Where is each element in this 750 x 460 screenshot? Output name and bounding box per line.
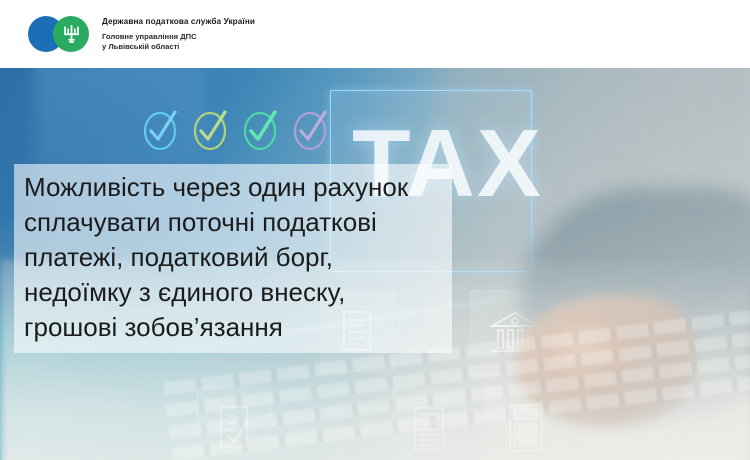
headline-text-box: Можливість через один рахунок сплачувати…: [14, 164, 452, 353]
checkmark-circle-blue-icon: [140, 106, 180, 152]
checkmark-circle-purple-icon: [290, 106, 330, 152]
agency-title-block: Державна податкова служба України Головн…: [102, 16, 255, 53]
headline-line-2: сплачувати поточні податкові: [24, 205, 442, 240]
headline-line-4: недоїмку з єдиного внеску,: [24, 275, 442, 310]
agency-department-line2: у Львівській області: [102, 42, 255, 53]
checkmark-circle-green-icon: [240, 106, 280, 152]
hero-banner: TAX: [0, 68, 750, 460]
agency-department-line1: Головне управління ДПС: [102, 32, 255, 43]
agency-logo: [28, 14, 90, 54]
checkmark-circle-lime-icon: [190, 106, 230, 152]
ukraine-trident-icon: [63, 24, 80, 44]
headline-line-5: грошові зобов’язання: [24, 310, 442, 345]
checkmark-row: [140, 106, 330, 152]
page-root: Державна податкова служба України Головн…: [0, 0, 750, 460]
headline-line-3: платежі, податковий борг,: [24, 240, 442, 275]
site-header: Державна податкова служба України Головн…: [0, 0, 750, 68]
headline-line-1: Можливість через один рахунок: [24, 170, 442, 205]
logo-circle-green-icon: [53, 16, 89, 52]
agency-name: Державна податкова служба України: [102, 16, 255, 27]
